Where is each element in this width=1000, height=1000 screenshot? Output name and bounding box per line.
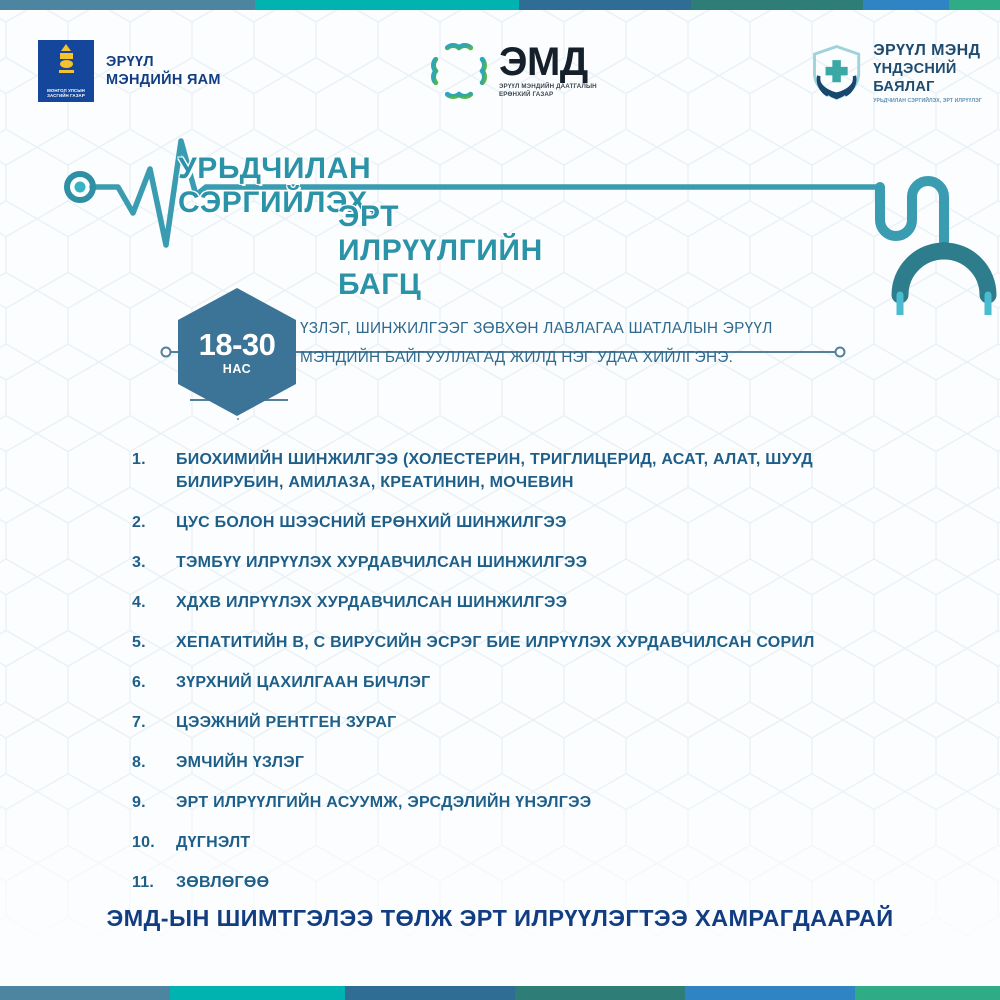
- national-logo-line1: ЭРҮҮЛ МЭНД: [873, 41, 1000, 60]
- national-logo-line2: ҮНДЭСНИЙ БАЯЛАГ: [873, 60, 1000, 96]
- stripe-segment-2: [170, 986, 345, 1000]
- service-list-item: 1.БИОХИМИЙН ШИНЖИЛГЭЭ (ХОЛЕСТЕРИН, ТРИГЛ…: [132, 448, 932, 494]
- logo-ministry-of-health: МОНГОЛ УЛСЫН ЗАСГИЙН ГАЗАР ЭРҮҮЛ МЭНДИЙН…: [38, 40, 221, 102]
- service-item-text: ТЭМБҮҮ ИЛРҮҮЛЭХ ХУРДАВЧИЛСАН ШИНЖИЛГЭЭ: [176, 551, 587, 574]
- stripe-segment-6: [855, 986, 1000, 1000]
- service-list-item: 8.ЭМЧИЙН ҮЗЛЭГ: [132, 751, 932, 774]
- national-logo-line3: УРЬДЧИЛАН СЭРГИЙЛЭХ, ЭРТ ИЛРҮҮЛЭГ: [873, 98, 1000, 104]
- footer-section: ЭМД-ЫН ШИМТГЭЛЭЭ ТӨЛЖ ЭРТ ИЛРҮҮЛЭГТЭЭ ХА…: [0, 905, 1000, 932]
- stripe-segment-4: [691, 0, 863, 10]
- service-item-text: ЗӨВЛӨГӨӨ: [176, 871, 269, 894]
- ecg-electrode-dot: [67, 174, 93, 200]
- service-item-number: 1.: [132, 448, 176, 471]
- badge-description: ҮЗЛЭГ, ШИНЖИЛГЭЭГ ЗӨВХӨН ЛАВЛАГАА ШАТЛАЛ…: [300, 314, 840, 372]
- service-list: 1.БИОХИМИЙН ШИНЖИЛГЭЭ (ХОЛЕСТЕРИН, ТРИГЛ…: [132, 448, 932, 911]
- service-item-number: 6.: [132, 671, 176, 694]
- service-item-text: ЭРТ ИЛРҮҮЛГИЙН АСУУМЖ, ЭРСДЭЛИЙН ҮНЭЛГЭЭ: [176, 791, 591, 814]
- footer-call-to-action: ЭМД-ЫН ШИМТГЭЛЭЭ ТӨЛЖ ЭРТ ИЛРҮҮЛЭГТЭЭ ХА…: [107, 905, 894, 932]
- age-badge-section: 18-30 НАС ҮЗЛЭГ, ШИНЖИЛГЭЭГ ЗӨВХӨН ЛАВЛА…: [0, 280, 1000, 420]
- stripe-segment-4: [515, 986, 685, 1000]
- service-list-item: 9.ЭРТ ИЛРҮҮЛГИЙН АСУУМЖ, ЭРСДЭЛИЙН ҮНЭЛГ…: [132, 791, 932, 814]
- service-item-number: 3.: [132, 551, 176, 574]
- bottom-color-stripe: [0, 986, 1000, 1000]
- service-item-text: БИОХИМИЙН ШИНЖИЛГЭЭ (ХОЛЕСТЕРИН, ТРИГЛИЦ…: [176, 448, 916, 494]
- service-list-item: 6.ЗҮРХНИЙ ЦАХИЛГААН БИЧЛЭГ: [132, 671, 932, 694]
- stripe-segment-1: [0, 0, 255, 10]
- service-item-number: 8.: [132, 751, 176, 774]
- stripe-segment-5: [863, 0, 949, 10]
- emd-knot-icon: [428, 40, 490, 102]
- service-list-item: 5.ХЕПАТИТИЙН В, С ВИРУСИЙН ЭСРЭГ БИЕ ИЛР…: [132, 631, 932, 654]
- stripe-segment-2: [255, 0, 519, 10]
- service-list-item: 3.ТЭМБҮҮ ИЛРҮҮЛЭХ ХУРДАВЧИЛСАН ШИНЖИЛГЭЭ: [132, 551, 932, 574]
- logo-emd: ЭМД ЭРҮҮЛ МЭНДИЙН ДААТГАЛЫН ЕРӨНХИЙ ГАЗА…: [428, 40, 597, 102]
- age-label: НАС: [223, 362, 252, 376]
- service-list-item: 7.ЦЭЭЖНИЙ РЕНТГЕН ЗУРАГ: [132, 711, 932, 734]
- top-color-stripe: [0, 0, 1000, 10]
- stripe-segment-6: [949, 0, 1000, 10]
- service-item-text: ЭМЧИЙН ҮЗЛЭГ: [176, 751, 304, 774]
- service-item-number: 10.: [132, 831, 176, 854]
- service-item-text: ЦЭЭЖНИЙ РЕНТГЕН ЗУРАГ: [176, 711, 396, 734]
- ministry-name: ЭРҮҮЛ МЭНДИЙН ЯАМ: [106, 53, 221, 89]
- service-list-item: 11.ЗӨВЛӨГӨӨ: [132, 871, 932, 894]
- service-item-text: ХЕПАТИТИЙН В, С ВИРУСИЙН ЭСРЭГ БИЕ ИЛРҮҮ…: [176, 631, 815, 654]
- logo-national-health: ЭРҮҮЛ МЭНД ҮНДЭСНИЙ БАЯЛАГ УРЬДЧИЛАН СЭР…: [806, 36, 1000, 108]
- badge-description-line2: МЭНДИЙН БАЙГУУЛЛАГАД ЖИЛД НЭГ УДАА ХИЙЛГ…: [300, 343, 840, 372]
- service-item-text: ЗҮРХНИЙ ЦАХИЛГААН БИЧЛЭГ: [176, 671, 430, 694]
- service-item-number: 5.: [132, 631, 176, 654]
- stripe-segment-3: [345, 986, 515, 1000]
- service-item-number: 4.: [132, 591, 176, 614]
- stripe-segment-5: [685, 986, 855, 1000]
- service-list-item: 4.ХДХВ ИЛРҮҮЛЭХ ХУРДАВЧИЛСАН ШИНЖИЛГЭЭ: [132, 591, 932, 614]
- service-item-text: ХДХВ ИЛРҮҮЛЭХ ХУРДАВЧИЛСАН ШИНЖИЛГЭЭ: [176, 591, 567, 614]
- stripe-segment-1: [0, 986, 170, 1000]
- service-list-item: 10.ДҮГНЭЛТ: [132, 831, 932, 854]
- stripe-segment-3: [519, 0, 691, 10]
- emd-subtitle: ЭРҮҮЛ МЭНДИЙН ДААТГАЛЫН ЕРӨНХИЙ ГАЗАР: [499, 83, 597, 100]
- mongolia-state-emblem-icon: МОНГОЛ УЛСЫН ЗАСГИЙН ГАЗАР: [38, 40, 94, 102]
- service-item-number: 11.: [132, 871, 176, 894]
- service-list-item: 2.ЦУС БОЛОН ШЭЭСНИЙ ЕРӨНХИЙ ШИНЖИЛГЭЭ: [132, 511, 932, 534]
- emd-title: ЭМД: [499, 43, 597, 81]
- age-range-value: 18-30: [199, 329, 276, 361]
- service-item-number: 7.: [132, 711, 176, 734]
- service-item-number: 2.: [132, 511, 176, 534]
- shield-cross-hands-icon: [806, 36, 867, 108]
- poster-canvas: МОНГОЛ УЛСЫН ЗАСГИЙН ГАЗАР ЭРҮҮЛ МЭНДИЙН…: [0, 0, 1000, 1000]
- soyombo-icon: [58, 44, 74, 78]
- badge-description-line1: ҮЗЛЭГ, ШИНЖИЛГЭЭГ ЗӨВХӨН ЛАВЛАГАА ШАТЛАЛ…: [300, 314, 840, 343]
- service-item-text: ЦУС БОЛОН ШЭЭСНИЙ ЕРӨНХИЙ ШИНЖИЛГЭЭ: [176, 511, 567, 534]
- service-item-text: ДҮГНЭЛТ: [176, 831, 250, 854]
- service-item-number: 9.: [132, 791, 176, 814]
- header-logos: МОНГОЛ УЛСЫН ЗАСГИЙН ГАЗАР ЭРҮҮЛ МЭНДИЙН…: [0, 10, 1000, 115]
- gov-emblem-caption: МОНГОЛ УЛСЫН ЗАСГИЙН ГАЗАР: [38, 88, 94, 99]
